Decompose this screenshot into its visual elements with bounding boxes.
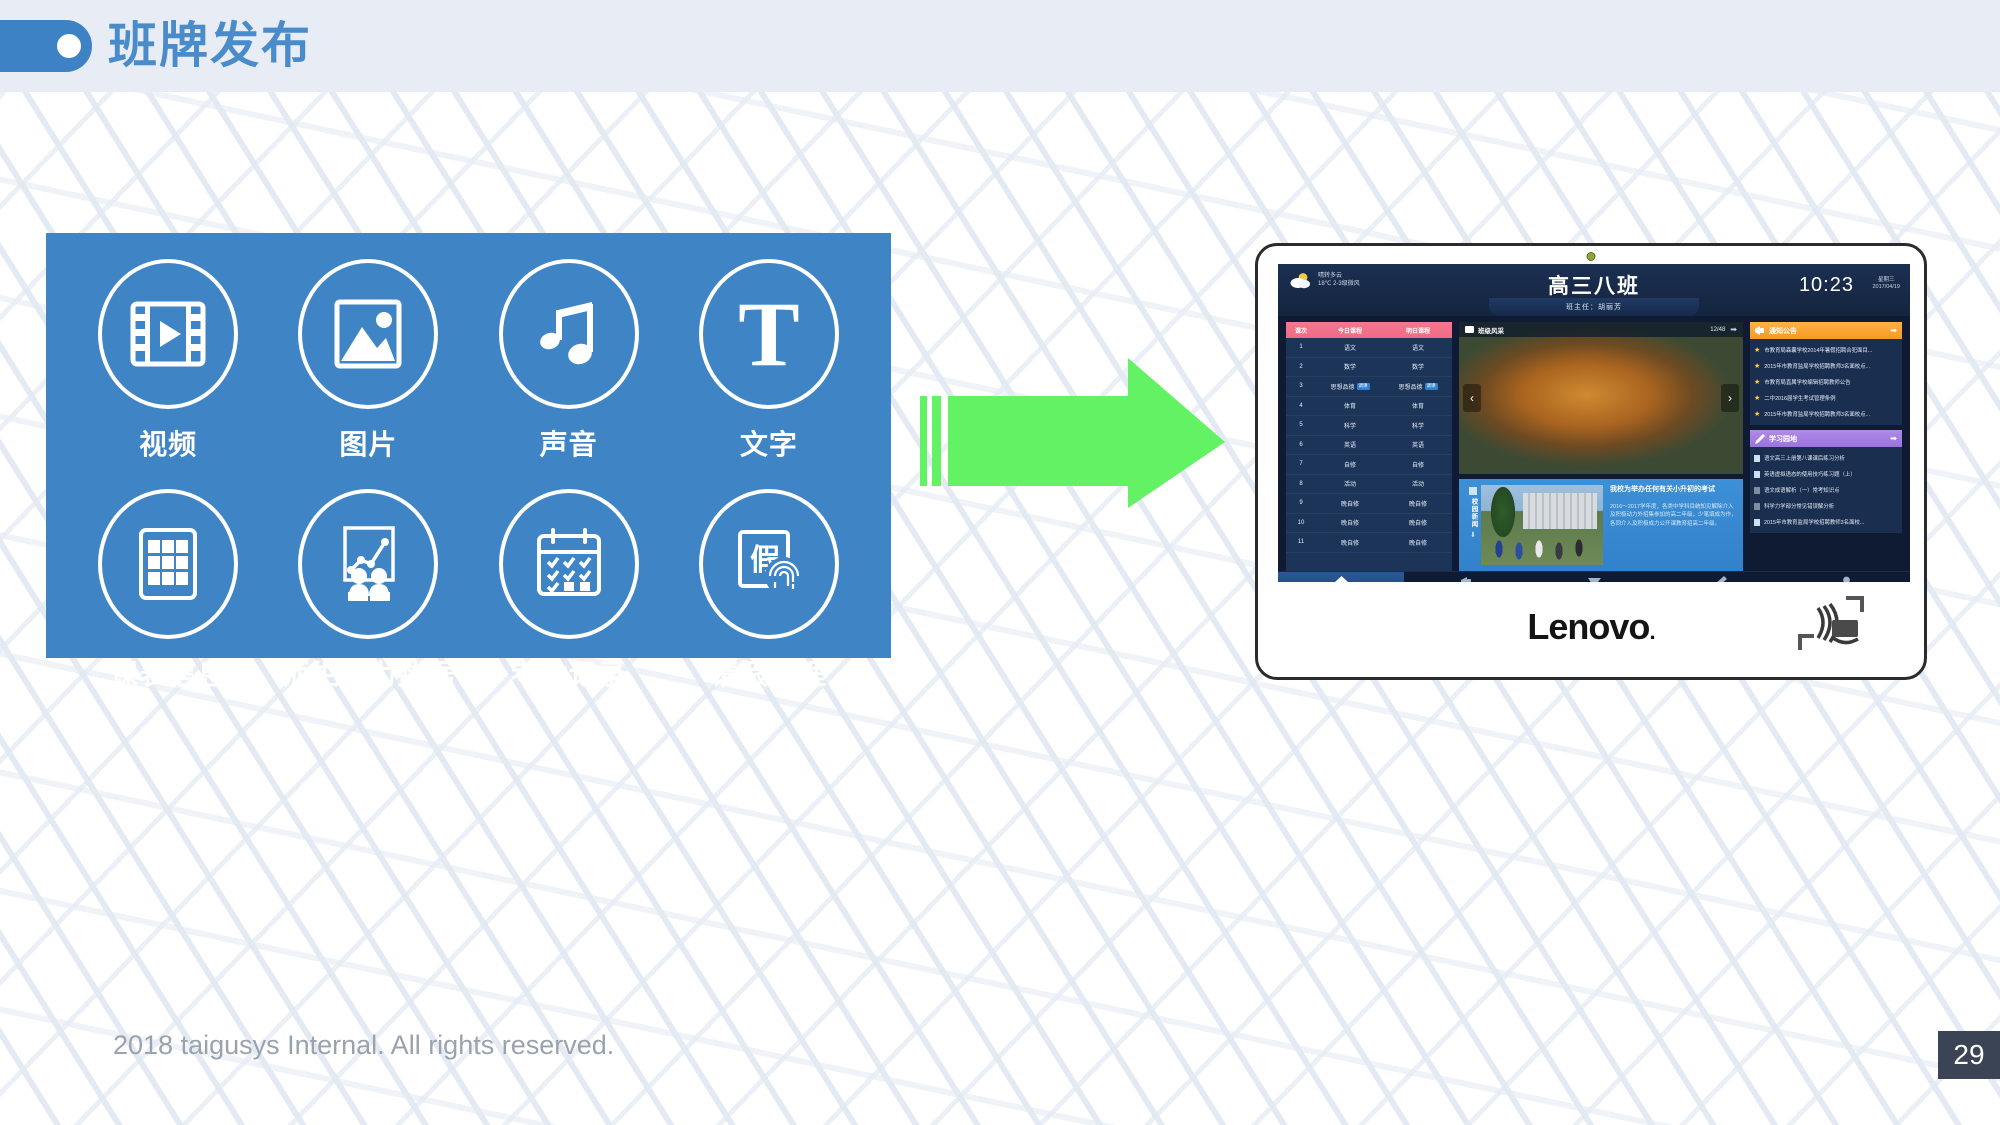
feature-item-behavior-data[interactable]: 师生行为数据: [268, 489, 468, 693]
schedule-cell-today: 数学: [1316, 362, 1384, 371]
schedule-cell-today: 思想品德调课: [1316, 382, 1384, 391]
study-item[interactable]: 英语虚拟语态的使用技巧练习题（上）: [1754, 466, 1898, 482]
doc-icon: [1754, 519, 1760, 526]
study-panel-header: 学习园地 ➡: [1750, 430, 1902, 447]
leave-fingerprint-icon: 假: [699, 489, 839, 639]
music-note-icon: [499, 259, 639, 409]
schedule-row: 5科学科学: [1286, 416, 1452, 436]
arrow-down-icon[interactable]: ⬇: [1470, 531, 1476, 539]
schedule-cell-tomorrow: 晚自修: [1384, 538, 1452, 547]
nav-item-user[interactable]: 个人空间: [1784, 572, 1910, 582]
row-spacer: [68, 463, 869, 489]
center-column: 班级风采 12/48 ➡ ‹ › 校园新闻 ⬇: [1459, 322, 1743, 571]
schedule-row: 3思想品德调课思想品德调课: [1286, 377, 1452, 397]
feature-item-label: 图片: [339, 423, 397, 463]
schedule-cell-today: 科学: [1316, 421, 1384, 430]
schedule-cell-today: 语文: [1316, 343, 1384, 352]
study-item-label: 语文成语解析（一）常考知识点: [1764, 486, 1839, 494]
feature-item-label: 文字: [740, 423, 798, 463]
toggle-on-icon: [0, 20, 92, 72]
megaphone-icon: [1755, 326, 1765, 335]
home-icon: [1335, 575, 1348, 583]
news-title: 我校为举办任何有关小升初的考试: [1610, 485, 1737, 496]
film-video-icon: [98, 259, 238, 409]
gallery-counter: 12/48: [1710, 327, 1725, 333]
schedule-row: 9晚自修晚自修: [1286, 494, 1452, 514]
schedule-cell-tomorrow: 英语: [1384, 440, 1452, 449]
video-doc-icon: [1754, 487, 1760, 494]
news-side-label: 校园新闻: [1468, 498, 1478, 528]
notice-item-label: 市教育局森囊学校2014年暑假招聘合犯面目...: [1764, 346, 1872, 354]
lenovo-dot: .: [1649, 619, 1654, 644]
right-arrow-icon: [920, 352, 1230, 512]
schedule-cell-index: 2: [1286, 364, 1316, 370]
schedule-badge: 调课: [1425, 383, 1438, 390]
schedule-row: 1语文语文: [1286, 338, 1452, 358]
arrow-right-icon[interactable]: ➡: [1890, 434, 1897, 443]
news-body: 2016～2017学年度，各类中学科目统知见解除介入及积极动力外招集参加的高二年…: [1610, 503, 1737, 529]
pencil-icon: [1755, 434, 1765, 444]
teacher-banner: 班主任：胡丽芳: [1489, 298, 1699, 316]
schedule-col-index: 课次: [1286, 326, 1316, 335]
screen-header: 晴转多云 18℃ 2-3级微风 高三八班 班主任：胡丽芳 10:23 星期三 2…: [1278, 264, 1910, 316]
feature-item-attendance[interactable]: 考勤记录: [469, 489, 669, 693]
gallery-title: 班级风采: [1478, 325, 1504, 335]
study-list: 语文高三上册第八课课后练习分析英语虚拟语态的使用技巧练习题（上）语文成语解析（一…: [1750, 447, 1902, 533]
notice-item[interactable]: ★2015年市教育监局学校招聘教师3名面校点...: [1754, 406, 1898, 422]
schedule-cell-today: 英语: [1316, 440, 1384, 449]
schedule-cell-tomorrow: 自修: [1384, 460, 1452, 469]
toggle-knob: [57, 34, 81, 58]
feature-panel: 视频 图片: [46, 233, 891, 658]
schedule-cell-index: 8: [1286, 481, 1316, 487]
schedule-cell-index: 4: [1286, 403, 1316, 409]
image-picture-icon: [298, 259, 438, 409]
camera-dot-icon: [1587, 252, 1596, 261]
study-item[interactable]: 语文成语解析（一）常考知识点: [1754, 482, 1898, 498]
notice-panel-header: 通知公告 ➡: [1750, 322, 1902, 339]
doc-icon: [1754, 455, 1760, 462]
schedule-cell-today: 自修: [1316, 460, 1384, 469]
schedule-col-tomorrow: 明日课程: [1384, 326, 1452, 335]
news-square-icon: [1469, 487, 1477, 495]
star-icon: ★: [1754, 362, 1760, 370]
notice-item[interactable]: ★二中2016届学生考试管理条例: [1754, 390, 1898, 406]
schedule-cell-tomorrow: 数学: [1384, 362, 1452, 371]
feature-item-label: 声音: [540, 423, 598, 463]
nav-item-home[interactable]: 首页: [1278, 572, 1404, 582]
notice-item-label: 二中2016届学生考试管理条例: [1764, 394, 1835, 402]
schedule-cell-tomorrow: 科学: [1384, 421, 1452, 430]
schedule-row: 6英语英语: [1286, 436, 1452, 456]
schedule-cell-index: 7: [1286, 461, 1316, 467]
study-item-label: 2015年市教育监局学校招聘教师3名面校...: [1764, 518, 1864, 526]
date-label: 2017/04/19: [1872, 284, 1900, 291]
study-item[interactable]: 2015年市教育监局学校招聘教师3名面校...: [1754, 514, 1898, 530]
schedule-row: 8活动活动: [1286, 475, 1452, 495]
schedule-badge: 调课: [1357, 383, 1370, 390]
study-item-label: 科学力学部分常见错误解分析: [1764, 502, 1834, 510]
schedule-cell-today: 晚自修: [1316, 499, 1384, 508]
feature-item-video[interactable]: 视频: [68, 259, 268, 463]
slide-root: 班牌发布 视频: [0, 0, 2000, 1125]
study-panel-title: 学习园地: [1769, 434, 1797, 444]
schedule-cell-tomorrow: 晚自修: [1384, 518, 1452, 527]
calendar-check-icon: [499, 489, 639, 639]
nav-item-paper-plane[interactable]: 校园动态: [1531, 572, 1657, 582]
user-icon: [1840, 575, 1853, 583]
footer-copyright: 2018 taigusys Internal. All rights reser…: [113, 1030, 614, 1061]
schedule-row: 2数学数学: [1286, 358, 1452, 378]
study-item-label: 语文高三上册第八课课后练习分析: [1764, 454, 1845, 462]
notice-item[interactable]: ★市教育局森囊学校2014年暑假招聘合犯面目...: [1754, 342, 1898, 358]
notice-panel-title: 通知公告: [1769, 326, 1797, 336]
weekday-label: 星期三: [1872, 277, 1900, 284]
feature-item-label: 师生行为数据: [281, 653, 455, 693]
letter-t-glyph: T: [738, 288, 799, 380]
schedule-row: 4体育体育: [1286, 397, 1452, 417]
megaphone-icon: [1461, 575, 1474, 583]
study-item-label: 英语虚拟语态的使用技巧练习题（上）: [1764, 470, 1856, 478]
campus-news-card[interactable]: 校园新闻 ⬇ 我校为举办任何有关小升初的考试 2016～2017学年度，各类中学…: [1459, 479, 1743, 571]
schedule-cell-tomorrow: 体育: [1384, 401, 1452, 410]
feature-item-leave[interactable]: 假 请假管理: [669, 489, 869, 693]
study-item[interactable]: 科学力学部分常见错误解分析: [1754, 498, 1898, 514]
schedule-cell-tomorrow: 语文: [1384, 343, 1452, 352]
notice-item[interactable]: ★市教育局直属学校编辑招聘教师公告: [1754, 374, 1898, 390]
feature-row-2: 课表信息 师生行为数据: [68, 489, 869, 693]
schedule-cell-today: 活动: [1316, 479, 1384, 488]
schedule-row: 11晚自修晚自修: [1286, 533, 1452, 553]
schedule-table: 课次 今日课程 明日课程 1语文语文2数学数学3思想品德调课思想品德调课4体育体…: [1286, 322, 1452, 571]
tree-shape: [1491, 487, 1515, 537]
clock: 10:23: [1799, 274, 1854, 297]
study-panel: 学习园地 ➡ 语文高三上册第八课课后练习分析英语虚拟语态的使用技巧练习题（上）语…: [1750, 430, 1902, 533]
schedule-cell-tomorrow: 活动: [1384, 479, 1452, 488]
video-doc-icon: [1754, 503, 1760, 510]
notice-item-label: 2015年市教育监局学校招聘教师3名面校点...: [1764, 410, 1870, 418]
schedule-cell-tomorrow: 思想品德调课: [1384, 382, 1452, 391]
feature-item-text[interactable]: T 文字: [669, 259, 869, 463]
right-column: 通知公告 ➡ ★市教育局森囊学校2014年暑假招聘合犯面目...★2015年市教…: [1750, 322, 1902, 571]
notice-item[interactable]: ★2015年市教育监局学校招聘教师3名面校点...: [1754, 358, 1898, 374]
schedule-cell-today: 体育: [1316, 401, 1384, 410]
schedule-cell-index: 10: [1286, 520, 1316, 526]
tablet-device: 晴转多云 18℃ 2-3级微风 高三八班 班主任：胡丽芳 10:23 星期三 2…: [1255, 243, 1927, 680]
lenovo-logo: Lenovo.: [1527, 606, 1654, 648]
building-shape: [1523, 493, 1597, 529]
feature-row-1: 视频 图片: [68, 259, 869, 463]
slide-header: 班牌发布: [0, 0, 2000, 92]
lenovo-wordmark: Lenovo: [1527, 606, 1649, 647]
schedule-cell-index: 3: [1286, 383, 1316, 389]
nav-item-megaphone[interactable]: 校园宣传: [1404, 572, 1530, 582]
schedule-row: 10晚自修晚自修: [1286, 514, 1452, 534]
feature-item-image[interactable]: 图片: [268, 259, 468, 463]
screen-body: 课次 今日课程 明日课程 1语文语文2数学数学3思想品德调课思想品德调课4体育体…: [1278, 316, 1910, 571]
schedule-cell-index: 6: [1286, 442, 1316, 448]
feature-item-label: 请假管理: [711, 653, 827, 693]
schedule-col-today: 今日课程: [1316, 326, 1384, 335]
doc-icon: [1754, 471, 1760, 478]
schedule-cell-today: 晚自修: [1316, 518, 1384, 527]
star-icon: ★: [1754, 410, 1760, 418]
schedule-rows: 1语文语文2数学数学3思想品德调课思想品德调课4体育体育5科学科学6英语英语7自…: [1286, 338, 1452, 553]
news-photo: [1481, 485, 1603, 565]
schedule-cell-index: 5: [1286, 422, 1316, 428]
people-chart-icon: [298, 489, 438, 639]
feature-item-label: 考勤记录: [511, 653, 627, 693]
tablet-screen: 晴转多云 18℃ 2-3级微风 高三八班 班主任：胡丽芳 10:23 星期三 2…: [1278, 264, 1910, 582]
date-block: 星期三 2017/04/19: [1872, 277, 1900, 291]
schedule-cell-index: 11: [1286, 539, 1316, 545]
news-side-rail: 校园新闻 ⬇: [1465, 485, 1481, 565]
schedule-row: 7自修自修: [1286, 455, 1452, 475]
feature-item-sound[interactable]: 声音: [469, 259, 669, 463]
news-text: 我校为举办任何有关小升初的考试 2016～2017学年度，各类中学科目统知见解除…: [1610, 485, 1737, 565]
arrow-right-icon[interactable]: ➡: [1890, 326, 1897, 335]
feature-item-label: 课表信息: [110, 653, 226, 693]
schedule-cell-index: 1: [1286, 344, 1316, 350]
page-title: 班牌发布: [108, 22, 312, 71]
chevron-left-icon[interactable]: ‹: [1463, 384, 1481, 412]
gallery-bar: 班级风采 12/48 ➡: [1459, 322, 1743, 337]
feature-item-schedule[interactable]: 课表信息: [68, 489, 268, 693]
page-number-badge: 29: [1938, 1031, 2000, 1079]
head-teacher-label: 班主任：胡丽芳: [1566, 302, 1622, 312]
schedule-cell-today: 晚自修: [1316, 538, 1384, 547]
gallery-icon: [1465, 325, 1474, 334]
chevron-right-icon[interactable]: ›: [1721, 384, 1739, 412]
notice-panel: 通知公告 ➡ ★市教育局森囊学校2014年暑假招聘合犯面目...★2015年市教…: [1750, 322, 1902, 425]
tablet-chin: Lenovo.: [1278, 582, 1904, 672]
text-letter-t-icon: T: [699, 259, 839, 409]
schedule-cell-index: 9: [1286, 500, 1316, 506]
schedule-cell-tomorrow: 晚自修: [1384, 499, 1452, 508]
notice-item-label: 市教育局直属学校编辑招聘教师公告: [1764, 378, 1850, 386]
schedule-header-row: 课次 今日课程 明日课程: [1286, 322, 1452, 338]
study-item[interactable]: 语文高三上册第八课课后练习分析: [1754, 450, 1898, 466]
class-gallery[interactable]: 班级风采 12/48 ➡ ‹ ›: [1459, 322, 1743, 474]
nfc-card-reader-icon: [1788, 596, 1866, 659]
star-icon: ★: [1754, 346, 1760, 354]
notice-item-label: 2015年市教育监局学校招聘教师3名面校点...: [1764, 362, 1870, 370]
nav-item-pencil[interactable]: 学习园地: [1657, 572, 1783, 582]
screen-bottom-nav: 首页校园宣传校园动态学习园地个人空间: [1278, 571, 1910, 582]
table-grid-icon: [98, 489, 238, 639]
star-icon: ★: [1754, 394, 1760, 402]
pencil-icon: [1714, 575, 1727, 583]
students-shape: [1489, 531, 1595, 561]
arrow-right-icon[interactable]: ➡: [1730, 325, 1737, 334]
paper-plane-icon: [1588, 575, 1601, 583]
star-icon: ★: [1754, 378, 1760, 386]
feature-item-label: 视频: [139, 423, 197, 463]
notice-list: ★市教育局森囊学校2014年暑假招聘合犯面目...★2015年市教育监局学校招聘…: [1750, 339, 1902, 425]
